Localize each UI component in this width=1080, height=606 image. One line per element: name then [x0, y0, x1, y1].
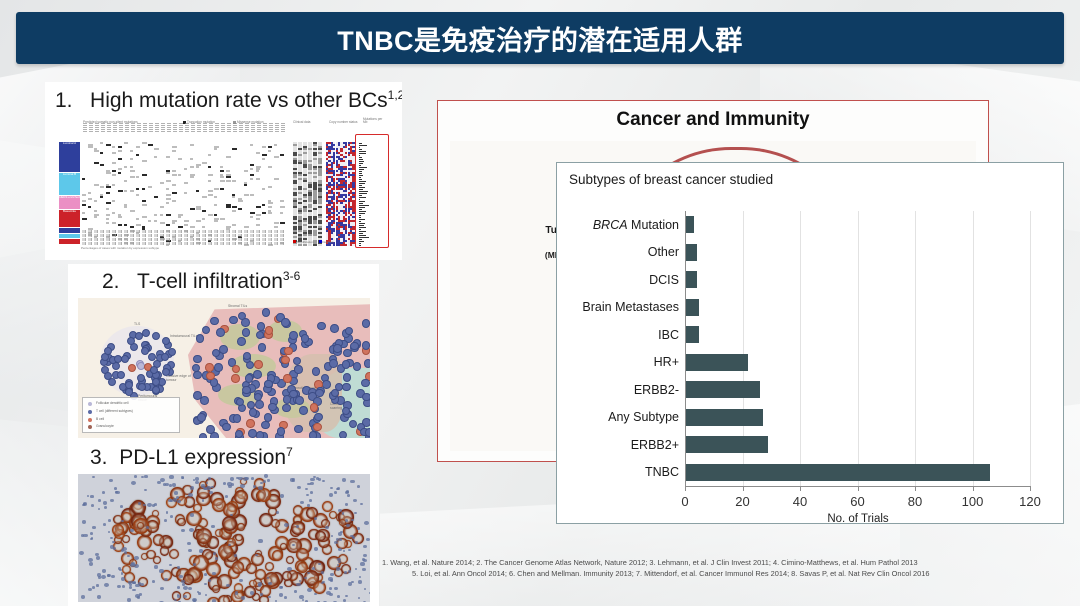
heatmap-mutation-cell: [232, 180, 236, 182]
ihc-nucleus: [299, 595, 303, 599]
panel-1-heading: 1. High mutation rate vs other BCs1,2: [45, 82, 402, 113]
ihc-nucleus: [343, 599, 346, 602]
heatmap-mutation-cell: [250, 178, 253, 180]
ihc-nucleus: [169, 475, 173, 479]
heatmap-mutation-cell: [100, 152, 103, 154]
heatmap-percent-cell: [82, 230, 87, 233]
heatmap-mutation-cell: [196, 166, 199, 168]
heatmap-percent-cell: [238, 242, 243, 245]
ihc-nucleus: [250, 591, 254, 594]
heatmap-percent-cell: [106, 230, 111, 233]
heatmap-mutation-cell: [232, 206, 237, 208]
heatmap-percent-cell: [154, 242, 159, 245]
heatmap-mutation-cell: [274, 226, 278, 228]
heatmap-percent-cell: [274, 230, 279, 233]
ihc-nucleus: [182, 583, 185, 586]
heatmap-mutation-cell: [106, 186, 111, 188]
ihc-nucleus: [329, 493, 333, 496]
ihc-nucleus: [241, 596, 245, 599]
heatmap-mutation-cell: [148, 220, 151, 222]
heatmap-percent-cell: [244, 230, 249, 233]
ihc-nucleus: [292, 478, 296, 481]
heatmap-percent-cell: [154, 234, 159, 237]
heatmap-gene-label: [221, 123, 225, 132]
heatmap-mutation-cell: [94, 150, 99, 152]
heatmap-percent-cell: [238, 230, 243, 233]
immune-cell: [364, 359, 370, 368]
heatmap-mutation-cell: [172, 174, 177, 176]
heatmap-percent-cell: [118, 238, 123, 241]
immune-cell: [312, 367, 321, 376]
heatmap-mutation-cell: [250, 168, 253, 170]
ihc-stained-cell: [286, 556, 294, 564]
ihc-nucleus: [363, 601, 366, 602]
ihc-stained-cell: [265, 562, 274, 571]
genomics-heatmap-figure: Predicted somatic non-silent mutations T…: [59, 118, 391, 252]
ihc-nucleus: [204, 583, 207, 585]
heatmap-percent-cell: [196, 242, 201, 245]
ihc-nucleus: [346, 490, 349, 493]
heatmap-percent-cell: [190, 230, 195, 233]
heatmap-mutation-cell: [268, 206, 272, 208]
heatmap-percent-cell: [94, 230, 99, 233]
ihc-nucleus: [119, 569, 121, 571]
heatmap-percent-cell: [112, 230, 117, 233]
heatmap-mutation-cell: [268, 212, 272, 214]
heatmap-mutation-cell: [124, 166, 127, 168]
ihc-nucleus: [363, 545, 368, 549]
immune-cell: [206, 425, 215, 434]
heatmap-mutation-cell: [82, 204, 86, 206]
immune-cell: [210, 317, 219, 326]
immune-cell: [342, 360, 351, 369]
heatmap-mutation-cell: [190, 158, 193, 160]
chart-bar: [685, 299, 699, 316]
heatmap-mutation-cell: [106, 218, 109, 220]
ihc-nucleus: [206, 486, 210, 490]
heatmap-mutation-cell: [244, 226, 249, 228]
heatmap-mutation-cell: [124, 190, 127, 192]
heatmap-percent-cell: [88, 234, 93, 237]
heatmap-mutation-cell: [250, 212, 255, 214]
ihc-nucleus: [230, 477, 234, 481]
ihc-nucleus: [336, 567, 340, 571]
subtype-block: [59, 239, 80, 244]
heatmap-mutation-cell: [148, 186, 152, 188]
immune-cell: [249, 408, 258, 417]
ihc-nucleus: [223, 482, 226, 485]
immune-cell: [150, 366, 158, 374]
heatmap-mutation-cell: [208, 154, 211, 156]
heatmap-mutation-cell: [220, 170, 224, 172]
chart-bar: [685, 464, 990, 481]
panel-3-superscript: 7: [286, 445, 293, 459]
chart-tick-mark: [685, 486, 686, 491]
ihc-nucleus: [225, 495, 228, 498]
heatmap-percent-cell: [274, 234, 279, 237]
heatmap-mutation-cell: [202, 196, 207, 198]
heatmap-gene-label: [227, 123, 231, 132]
heatmap-header-label: Mutations per Mb: [363, 118, 387, 125]
heatmap-percent-cell: [118, 242, 123, 245]
heatmap-percent-cell: [178, 234, 183, 237]
heatmap-mutation-cell: [94, 200, 97, 202]
heatmap-gene-label: [203, 123, 207, 132]
panel-2-superscript: 3-6: [283, 269, 300, 283]
ihc-nucleus: [129, 586, 132, 588]
ihc-nucleus: [208, 579, 211, 581]
ihc-nucleus: [234, 554, 237, 557]
immune-cell: [294, 365, 303, 374]
ihc-nucleus: [305, 600, 308, 602]
heatmap-percent-cell: [274, 242, 279, 245]
immune-cell: [137, 374, 145, 382]
ihc-nucleus: [102, 491, 106, 494]
reference-footnote: 1. Wang, et al. Nature 2014; 2. The Canc…: [382, 557, 1072, 580]
ihc-stained-cell: [218, 595, 230, 602]
heatmap-percent-cell: [124, 238, 129, 241]
ihc-nucleus: [342, 478, 346, 482]
heatmap-percent-cell: [202, 234, 207, 237]
ihc-nucleus: [121, 572, 124, 574]
heatmap-mutation-cell: [208, 190, 213, 192]
ihc-nucleus: [253, 485, 257, 488]
ihc-nucleus: [358, 580, 362, 583]
ihc-nucleus: [330, 573, 333, 576]
chart-category-label: Other: [648, 245, 679, 259]
ihc-nucleus: [138, 502, 141, 505]
subtype-block: Luminal B: [59, 173, 80, 195]
heatmap-header-label: Clinical data: [293, 120, 310, 124]
ihc-stained-cell: [137, 535, 152, 550]
heatmap-percent-cell: [124, 230, 129, 233]
chart-tick-label: 120: [1019, 494, 1041, 509]
ihc-nucleus: [211, 525, 214, 528]
legend-label: Granulocyte: [96, 424, 114, 428]
heatmap-mutation-cell: [136, 154, 139, 156]
heatmap-mutation-cell: [232, 196, 235, 198]
ihc-nucleus: [154, 503, 157, 506]
ihc-nucleus: [141, 476, 144, 478]
ihc-nucleus: [366, 538, 370, 541]
heatmap-mutation-cell: [226, 180, 231, 182]
heatmap-gene-label: [125, 123, 129, 132]
ihc-nucleus: [364, 588, 367, 590]
heatmap-mutation-cell: [256, 218, 260, 220]
chart-bar-row: ERBB2+: [685, 436, 1030, 453]
ihc-nucleus: [81, 595, 85, 599]
heatmap-mutation-cell: [196, 190, 199, 192]
chart-bar: [685, 326, 699, 343]
heatmap-percent-cell: [214, 238, 219, 241]
heatmap-percent-cell: [166, 230, 171, 233]
ihc-nucleus: [190, 513, 194, 516]
ihc-nucleus: [305, 488, 307, 490]
ihc-nucleus: [307, 588, 312, 592]
heatmap-percent-cell: [244, 234, 249, 237]
immune-cell: [264, 380, 273, 389]
heatmap-mutation-cell: [136, 224, 141, 226]
heatmap-mutation-cell: [262, 212, 266, 214]
ihc-nucleus: [181, 580, 185, 583]
heatmap-percent-cell: [166, 234, 171, 237]
heatmap-mutation-cell: [124, 224, 127, 226]
immune-cell: [265, 326, 274, 335]
ihc-nucleus: [316, 477, 319, 480]
til-legend: Follicular dendritic cell T cell (differ…: [82, 397, 180, 433]
panel-1-number: 1.: [55, 89, 73, 112]
heatmap-gene-label: [245, 123, 249, 132]
heatmap-mutation-cell: [112, 174, 116, 176]
heatmap-mutation-cell: [166, 224, 170, 226]
ihc-nucleus: [307, 483, 310, 486]
ihc-nucleus: [144, 475, 147, 478]
immune-cell: [231, 374, 240, 383]
ihc-nucleus: [275, 600, 277, 602]
heatmap-percent-cell: [202, 242, 207, 245]
heatmap-percent-cell: [94, 242, 99, 245]
heatmap-mutation-cell: [274, 222, 279, 224]
heatmap-percent-cell: [238, 234, 243, 237]
heatmap-mutation-cell: [226, 176, 231, 178]
heatmap-percent-cell: [214, 230, 219, 233]
immune-cell: [216, 328, 225, 337]
heatmap-mutation-cell: [190, 144, 194, 146]
chart-bar-row: TNBC: [685, 464, 1030, 481]
heatmap-percent-cell: [262, 238, 267, 241]
heatmap-mutation-cell: [112, 212, 115, 214]
heatmap-percent-cell: [208, 234, 213, 237]
chart-tick-mark: [800, 486, 801, 491]
ihc-nucleus: [97, 595, 101, 598]
heatmap-percent-cell: [250, 234, 255, 237]
heatmap-percent-cell: [274, 238, 279, 241]
heatmap-mutation-cell: [208, 166, 211, 168]
ihc-nucleus: [152, 580, 156, 583]
heatmap-clinical-cell: [298, 244, 302, 246]
heatmap-percent-cell: [160, 230, 165, 233]
heatmap-gene-label: [167, 123, 171, 132]
chart-bar: [685, 436, 768, 453]
heatmap-mutation-cell: [232, 224, 236, 226]
heatmap-mutation-cell: [244, 170, 248, 172]
chart-plot-area: BRCA MutationOtherDCISBrain MetastasesIB…: [685, 211, 1030, 486]
heatmap-mutation-cell: [154, 156, 157, 158]
heatmap-gene-label: [251, 123, 255, 132]
heatmap-clinical-cell: [318, 244, 322, 246]
heatmap-percent-cell: [106, 242, 111, 245]
heatmap-gene-label: [215, 123, 219, 132]
heatmap-mutation-cell: [190, 176, 194, 178]
heatmap-percent-cell: [202, 238, 207, 241]
heatmap-mutation-cell: [142, 216, 147, 218]
heatmap-percent-cell: [142, 230, 147, 233]
heatmap-gene-label: [161, 123, 165, 132]
ihc-nucleus: [212, 572, 215, 575]
heatmap-mutation-cell: [136, 218, 139, 220]
ihc-nucleus: [88, 588, 92, 591]
heatmap-percent-cell: [124, 242, 129, 245]
ihc-nucleus: [128, 581, 131, 584]
heatmap-percent-cell: [112, 242, 117, 245]
ihc-nucleus: [235, 591, 239, 594]
heatmap-mutation-cell: [256, 206, 261, 208]
ihc-nucleus: [330, 487, 333, 490]
ihc-nucleus: [187, 542, 191, 545]
ihc-nucleus: [160, 587, 164, 590]
ihc-nucleus: [329, 587, 332, 590]
slide-title: TNBC是免疫治疗的潜在适用人群: [337, 19, 742, 58]
ihc-nucleus: [176, 496, 179, 499]
footnote-line-2: 5. Loi, et al. Ann Oncol 2014; 6. Chen a…: [382, 568, 1072, 579]
heatmap-percent-cell: [196, 230, 201, 233]
immune-cell: [342, 383, 351, 392]
ihc-nucleus: [337, 595, 340, 598]
heatmap-percent-cell: [88, 230, 93, 233]
ihc-nucleus: [172, 483, 176, 487]
ihc-nucleus: [174, 491, 178, 494]
ihc-nucleus: [351, 519, 354, 522]
heatmap-percent-cell: [280, 238, 285, 241]
heatmap-mutation-cell: [100, 142, 103, 144]
heatmap-mutation-cell: [184, 168, 187, 170]
chart-category-label: ERBB2+: [631, 438, 679, 452]
heatmap-percent-cell: [214, 234, 219, 237]
ihc-nucleus: [355, 568, 357, 570]
heatmap-percent-cell: [250, 238, 255, 241]
ihc-nucleus: [279, 593, 283, 596]
heatmap-mutation-cell: [82, 218, 87, 220]
ihc-nucleus: [183, 586, 188, 590]
immune-cell: [313, 423, 322, 432]
chart-category-label: IBC: [658, 328, 679, 342]
heatmap-gene-label: [143, 123, 147, 132]
chart-bar-row: Any Subtype: [685, 409, 1030, 426]
heatmap-mutation-cell: [94, 184, 99, 186]
heatmap-percent-cell: [280, 234, 285, 237]
heatmap-mutation-cell: [130, 210, 135, 212]
ihc-nucleus: [177, 586, 180, 589]
heatmap-mutation-cell: [154, 220, 157, 222]
heatmap-percent-cell: [232, 234, 237, 237]
heatmap-mutation-cell: [142, 174, 147, 176]
immune-cell: [295, 396, 304, 405]
heatmap-percent-cell: [232, 238, 237, 241]
heatmap-percent-cell: [142, 238, 147, 241]
heatmap-percent-cell: [100, 234, 105, 237]
ihc-nucleus: [352, 536, 355, 539]
heatmap-percent-cell: [184, 234, 189, 237]
ihc-nucleus: [260, 593, 263, 595]
panel-2-title: T-cell infiltration: [137, 270, 283, 293]
ihc-nucleus: [325, 526, 329, 529]
ihc-nucleus: [357, 527, 361, 530]
ihc-nucleus: [369, 592, 370, 595]
left-panel-mutation-rate: 1. High mutation rate vs other BCs1,2 Pr…: [45, 82, 402, 260]
heatmap-percent-cell: [82, 242, 87, 245]
heatmap-mutation-cell: [256, 178, 260, 180]
heatmap-percent-cell: [82, 238, 87, 241]
ihc-nucleus: [120, 505, 123, 508]
heatmap-mutation-cell: [256, 214, 261, 216]
chart-category-label: BRCA Mutation: [593, 218, 679, 232]
ihc-nucleus: [177, 594, 179, 596]
ihc-nucleus: [310, 491, 313, 494]
immune-cell: [200, 396, 209, 405]
heatmap-mutation-cell: [244, 184, 247, 186]
heatmap-percent-cell: [208, 238, 213, 241]
heatmap-mutation-cell: [160, 214, 163, 216]
heatmap-mutation-cell: [190, 166, 194, 168]
heatmap-gene-label: [185, 123, 189, 132]
left-panel-pdl1-expression: 3. PD-L1 expression7: [68, 440, 379, 606]
heatmap-percent-cell: [220, 242, 225, 245]
immune-cell: [258, 343, 267, 352]
slide-title-banner: TNBC是免疫治疗的潜在适用人群: [16, 12, 1064, 64]
heatmap-gene-label: [95, 123, 99, 132]
heatmap-percent-cell: [142, 234, 147, 237]
heatmap-mutation-cell: [220, 188, 224, 190]
immune-cell: [315, 389, 324, 398]
ihc-nucleus: [166, 511, 169, 513]
heatmap-mutation-cell: [142, 142, 147, 144]
immune-cell: [214, 363, 223, 372]
heatmap-mutation-cell: [106, 172, 111, 174]
ihc-stained-cell: [177, 518, 185, 526]
heatmap-mutation-cell: [166, 188, 169, 190]
ihc-stained-cell: [315, 531, 326, 542]
heatmap-mutation-cell: [154, 214, 157, 216]
immune-cell: [199, 433, 208, 438]
heatmap-percent-cell: [202, 230, 207, 233]
heatmap-mutation-cell: [154, 148, 159, 150]
ihc-stained-cell: [153, 534, 164, 545]
ihc-nucleus: [83, 502, 87, 506]
immune-cell: [301, 334, 310, 343]
heatmap-mutation-cell: [100, 186, 104, 188]
heatmap-percent-cell: [100, 242, 105, 245]
ihc-nucleus: [199, 549, 203, 552]
heatmap-mutation-cell: [256, 170, 259, 172]
heatmap-percent-cell: [256, 230, 261, 233]
heatmap-mutation-cell: [82, 212, 85, 214]
ihc-nucleus: [104, 583, 109, 587]
subtype-block: Basal-like: [59, 210, 80, 227]
ihc-nucleus: [92, 586, 95, 589]
heatmap-mutation-cell: [220, 180, 225, 182]
ihc-nucleus: [91, 504, 95, 507]
heatmap-percent-cell: [136, 234, 141, 237]
heatmap-mutation-cell: [124, 206, 127, 208]
heatmap-percent-cell: [178, 242, 183, 245]
heatmap-gene-label: [101, 123, 105, 132]
ihc-nucleus: [159, 569, 163, 573]
heatmap-mutation-cell: [106, 202, 111, 204]
ihc-nucleus: [103, 501, 108, 505]
heatmap-gene-label: [263, 123, 267, 132]
legend-dot-bcell: [88, 418, 92, 422]
ihc-stained-cell: [297, 562, 308, 573]
chart-bar-row: HR+: [685, 354, 1030, 371]
heatmap-mutation-cell: [250, 174, 254, 176]
heatmap-mutation-cell: [136, 146, 140, 148]
ihc-nucleus: [188, 587, 192, 590]
heatmap-mutation-cell: [262, 204, 265, 206]
heatmap-gene-label: [173, 123, 177, 132]
ihc-nucleus: [98, 508, 100, 510]
ihc-nucleus: [213, 552, 216, 555]
chart-y-axis: [685, 211, 686, 487]
